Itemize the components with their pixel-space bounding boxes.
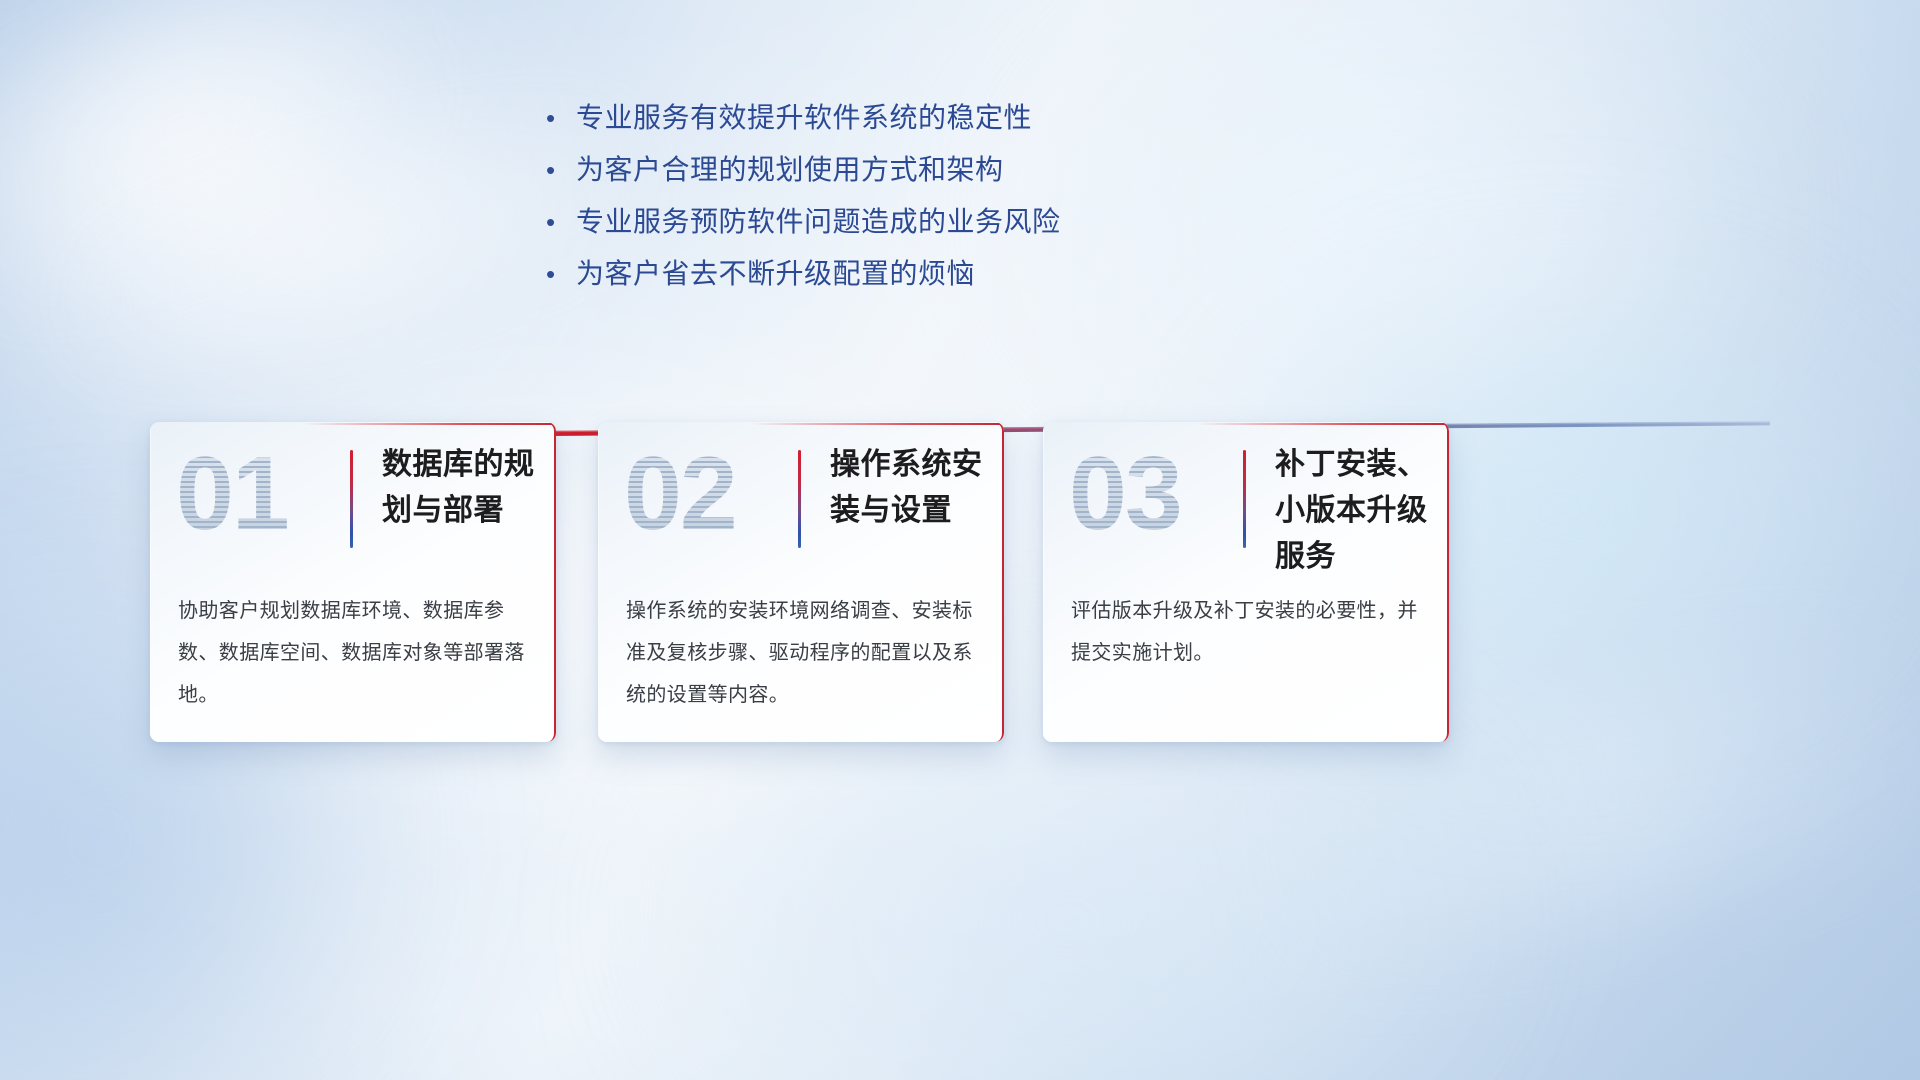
card-number-watermark: 03 (1069, 430, 1229, 558)
card-divider (798, 450, 801, 548)
benefits-bullet-list: • 专业服务有效提升软件系统的稳定性 • 为客户合理的规划使用方式和架构 • 专… (543, 92, 1061, 300)
bullet-text: 为客户省去不断升级配置的烦恼 (576, 248, 975, 300)
list-item: • 为客户合理的规划使用方式和架构 (543, 144, 1061, 196)
bullet-text: 为客户合理的规划使用方式和架构 (576, 144, 1004, 196)
service-card-2[interactable]: 02 操作系统安装与设置 操作系统的安装环境网络调查、安装标准及复核步骤、驱动程… (598, 422, 1004, 742)
card-divider (350, 450, 353, 548)
bullet-dot-icon: • (543, 248, 576, 300)
card-number-watermark: 02 (624, 430, 784, 558)
service-card-3[interactable]: 03 补丁安装、小版本升级服务 评估版本升级及补丁安装的必要性，并提交实施计划。 (1043, 422, 1449, 742)
card-header: 02 操作系统安装与设置 (598, 436, 1004, 566)
card-number-watermark: 01 (176, 430, 336, 558)
card-description: 评估版本升级及补丁安装的必要性，并提交实施计划。 (1071, 590, 1419, 674)
card-description: 协助客户规划数据库环境、数据库参数、数据库空间、数据库对象等部署落地。 (178, 590, 526, 716)
bullet-dot-icon: • (543, 144, 576, 196)
bullet-dot-icon: • (543, 196, 576, 248)
card-divider (1243, 450, 1246, 548)
bullet-text: 专业服务有效提升软件系统的稳定性 (576, 92, 1032, 144)
service-cards: 01 数据库的规划与部署 协助客户规划数据库环境、数据库参数、数据库空间、数据库… (0, 422, 1920, 752)
list-item: • 为客户省去不断升级配置的烦恼 (543, 248, 1061, 300)
list-item: • 专业服务有效提升软件系统的稳定性 (543, 92, 1061, 144)
bullet-text: 专业服务预防软件问题造成的业务风险 (576, 196, 1061, 248)
card-header: 03 补丁安装、小版本升级服务 (1043, 436, 1449, 566)
bullet-dot-icon: • (543, 92, 576, 144)
card-title: 数据库的规划与部署 (382, 442, 556, 534)
card-title: 操作系统安装与设置 (830, 442, 1004, 534)
service-card-1[interactable]: 01 数据库的规划与部署 协助客户规划数据库环境、数据库参数、数据库空间、数据库… (150, 422, 556, 742)
card-title: 补丁安装、小版本升级服务 (1275, 442, 1449, 580)
card-header: 01 数据库的规划与部署 (150, 436, 556, 566)
card-description: 操作系统的安装环境网络调查、安装标准及复核步骤、驱动程序的配置以及系统的设置等内… (626, 590, 974, 716)
list-item: • 专业服务预防软件问题造成的业务风险 (543, 196, 1061, 248)
